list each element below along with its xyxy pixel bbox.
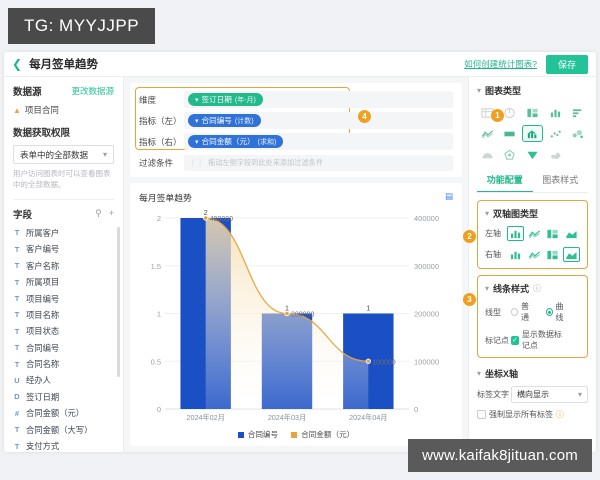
svg-text:400000: 400000 <box>414 214 439 223</box>
field-label: 客户名称 <box>26 260 59 272</box>
chart-type-header[interactable]: ▾ 图表类型 <box>477 84 588 97</box>
right-tabs: 功能配置 图表样式 <box>477 168 588 193</box>
field-item[interactable]: T客户编号 <box>13 241 114 257</box>
dimension-slot[interactable]: ▾ 签订日期 (年-月) <box>184 91 453 108</box>
svg-text:200000: 200000 <box>414 310 439 319</box>
field-type-icon: D <box>13 392 21 401</box>
field-type-icon: T <box>13 343 21 352</box>
save-button[interactable]: 保存 <box>546 55 588 74</box>
line-point-2 <box>366 359 370 363</box>
telegram-banner: TG: MYYJJPP <box>8 8 155 44</box>
chart-type-bar-icon[interactable] <box>567 104 588 121</box>
field-label: 签订日期 <box>26 391 59 403</box>
right-axis-options[interactable] <box>507 247 580 262</box>
field-item[interactable]: T合同名称 <box>13 356 114 372</box>
field-label: 合同编号 <box>26 342 59 354</box>
dual-axis-right-row: 右轴 <box>485 247 580 262</box>
chart-type-stacked-bar-icon[interactable] <box>522 104 543 121</box>
field-item[interactable]: T合同金额（大写） <box>13 421 114 437</box>
field-item[interactable]: D签订日期 <box>13 389 114 405</box>
tag-chevron-icon: ▾ <box>195 117 199 125</box>
filter-hint: 拖动左侧字段到此处来添加过滤条件 <box>208 158 323 168</box>
axis-option-stacked-bar-icon[interactable] <box>544 226 561 241</box>
marker-checkbox-wrap[interactable]: ✓ 显示数据标记点 <box>511 329 569 351</box>
field-label: 所属项目 <box>26 276 59 288</box>
dimension-tag-label: 签订日期 <box>202 94 232 105</box>
field-item[interactable]: T所属项目 <box>13 274 114 290</box>
svg-text:2024年03月: 2024年03月 <box>268 413 306 422</box>
field-type-icon: T <box>13 228 21 237</box>
chart-type-line-icon[interactable] <box>477 125 498 142</box>
checkbox-force-icon <box>477 410 486 419</box>
field-item[interactable]: T客户名称 <box>13 258 114 274</box>
x-label-text-label: 标签文字 <box>477 389 511 400</box>
field-item[interactable]: U经办人 <box>13 372 114 388</box>
chart-title: 每月签单趋势 <box>139 191 192 204</box>
right-axis-label: 右轴 <box>485 249 507 260</box>
axis-option-column-icon[interactable] <box>507 226 524 241</box>
metric-left-tag-label: 合同编号 <box>202 115 232 126</box>
config-row-metric-left: 指标（左） ▾ 合同编号 (计数) <box>139 111 453 130</box>
step-badge-2: 2 <box>463 230 476 243</box>
metric-right-label: 指标（右） <box>139 136 184 148</box>
field-type-icon: T <box>13 261 21 270</box>
fields-list[interactable]: T所属客户T客户编号T客户名称T所属项目T项目编号T项目名称T项目状态T合同编号… <box>4 225 123 452</box>
field-label: 客户编号 <box>26 243 59 255</box>
metric-right-tag-label: 合同金额（元） <box>202 136 255 147</box>
field-label: 经办人 <box>26 374 51 386</box>
field-type-icon: T <box>13 442 21 451</box>
info-icon[interactable]: ⓘ <box>556 409 564 420</box>
field-type-icon: # <box>13 409 21 418</box>
field-type-icon: T <box>13 294 21 303</box>
svg-text:400000: 400000 <box>210 216 233 223</box>
left-panel: 数据源 更改数据源 ▲ 项目合同 数据获取权限 表单中的全部数据 ▾ 用户访问图… <box>4 77 124 452</box>
chart-type-gauge-icon[interactable] <box>477 146 498 163</box>
permission-section: 数据获取权限 表单中的全部数据 ▾ 用户访问图表时可以查看图表中的全部数据。 <box>4 116 123 200</box>
form-icon: ▲ <box>13 106 21 115</box>
page-title: 每月签单趋势 <box>29 56 98 72</box>
datasource-title: 数据源 <box>13 84 42 98</box>
chart-legend: 合同编号合同金额（元） <box>139 426 453 441</box>
drag-handle-icon: ⋮⋮ <box>189 158 204 167</box>
left-axis-label: 左轴 <box>485 228 507 239</box>
fields-title: 字段 <box>13 207 32 221</box>
metric-left-tag[interactable]: ▾ 合同编号 (计数) <box>188 114 261 128</box>
field-label: 合同金额（大写） <box>26 424 92 436</box>
chevron-down-icon: ▾ <box>103 150 107 159</box>
chart-type-scatter-icon[interactable] <box>545 125 566 142</box>
legend-swatch <box>291 432 297 438</box>
field-item[interactable]: T支付方式 <box>13 438 114 452</box>
chart-type-radar-icon[interactable] <box>500 146 521 163</box>
step-badge-3: 3 <box>463 293 476 306</box>
force-label-text: 强制显示所有标签 <box>489 409 553 420</box>
field-label: 合同金额（元） <box>26 407 84 419</box>
fields-header: 字段 ⚲ + <box>4 200 123 225</box>
metric-right-tag[interactable]: ▾ 合同金额（元） (求和) <box>188 135 283 149</box>
svg-text:0: 0 <box>157 405 161 414</box>
filter-dropzone[interactable]: ⋮⋮ 拖动左侧字段到此处来添加过滤条件 <box>184 155 453 171</box>
marker-text: 显示数据标记点 <box>522 329 569 351</box>
search-icon[interactable]: ⚲ <box>95 208 102 219</box>
chart-svg: 00.511.520100000200000300000400000211400… <box>139 208 453 426</box>
dimension-tag-suffix: (年-月) <box>235 95 256 105</box>
x-axis-header[interactable]: ▾ 坐标X轴 <box>477 367 588 380</box>
app-body: 数据源 更改数据源 ▲ 项目合同 数据获取权限 表单中的全部数据 ▾ 用户访问图… <box>4 77 596 452</box>
line-point-0 <box>203 216 207 220</box>
chart-type-blank-icon[interactable] <box>567 146 588 163</box>
field-item[interactable]: T项目编号 <box>13 290 114 306</box>
field-type-icon: T <box>13 360 21 369</box>
dual-axis-title: 双轴图类型 <box>493 207 538 220</box>
plus-icon[interactable]: + <box>109 208 114 219</box>
center-panel: 4 维度 ▾ 签订日期 (年-月) 指标（左） <box>124 77 468 452</box>
chevron-down-icon: ▾ <box>578 390 582 399</box>
chart-type-bubble-icon[interactable] <box>567 125 588 142</box>
right-panel: ▾ 图表类型 1 功能配置 图表样式 2 ▾ 双轴图类型 左轴 <box>468 77 596 452</box>
legend-swatch <box>238 432 244 438</box>
field-label: 合同名称 <box>26 358 59 370</box>
chevron-down-icon: ▾ <box>485 284 489 293</box>
chart-type-funnel-icon[interactable] <box>522 146 543 163</box>
metric-left-slot[interactable]: ▾ 合同编号 (计数) <box>184 112 453 129</box>
field-type-icon: T <box>13 245 21 254</box>
metric-left-label: 指标（左） <box>139 115 184 127</box>
svg-text:1.5: 1.5 <box>151 262 161 271</box>
dual-axis-box: ▾ 双轴图类型 左轴 右轴 <box>477 200 588 269</box>
svg-text:200000: 200000 <box>291 312 314 319</box>
line-type-row: 线型 普通 曲线 <box>485 301 580 323</box>
legend-item[interactable]: 合同金额（元） <box>291 429 354 440</box>
permission-hint: 用户访问图表时可以查看图表中的全部数据。 <box>13 169 114 191</box>
line-type-normal-label: 普通 <box>521 301 534 323</box>
app-window: ❮ 每月签单趋势 如何创建统计图表? 保存 数据源 更改数据源 ▲ 项目合同 数… <box>4 52 596 452</box>
field-label: 项目名称 <box>26 309 59 321</box>
x-label-row: 标签文字 横向显示 ▾ <box>477 386 588 403</box>
permission-select[interactable]: 表单中的全部数据 ▾ <box>13 145 114 164</box>
dual-axis-header[interactable]: ▾ 双轴图类型 <box>485 207 580 220</box>
svg-text:2024年04月: 2024年04月 <box>349 413 387 422</box>
field-type-icon: U <box>13 376 21 385</box>
dual-axis-left-row: 左轴 <box>485 226 580 241</box>
force-label-row: 强制显示所有标签 ⓘ <box>477 409 588 420</box>
config-row-metric-right: 指标（右） ▾ 合同金额（元） (求和) <box>139 132 453 151</box>
chart-type-section: ▾ 图表类型 1 <box>469 77 596 168</box>
chart-type-map-icon[interactable] <box>545 146 566 163</box>
info-icon[interactable]: ⓘ <box>533 283 541 294</box>
legend-item[interactable]: 合同编号 <box>238 429 278 440</box>
svg-text:100000: 100000 <box>414 357 439 366</box>
svg-text:1: 1 <box>366 304 370 313</box>
x-axis-title: 坐标X轴 <box>485 367 518 380</box>
help-link[interactable]: 如何创建统计图表? <box>464 58 537 70</box>
checkbox-marker-icon: ✓ <box>511 336 519 345</box>
field-item[interactable]: T项目状态 <box>13 323 114 339</box>
field-type-icon: T <box>13 327 21 336</box>
tab-function-config[interactable]: 功能配置 <box>477 168 533 192</box>
dimension-label: 维度 <box>139 94 184 106</box>
radio-normal-icon <box>511 308 518 316</box>
dual-axis-panel: 2 ▾ 双轴图类型 左轴 右轴 <box>469 193 596 269</box>
svg-text:0.5: 0.5 <box>151 357 161 366</box>
svg-text:300000: 300000 <box>414 262 439 271</box>
field-label: 项目状态 <box>26 325 59 337</box>
permission-value: 表单中的全部数据 <box>20 149 88 161</box>
chevron-down-icon: ▾ <box>477 86 481 95</box>
left-axis-options[interactable] <box>507 226 580 241</box>
back-chevron-icon[interactable]: ❮ <box>12 57 22 71</box>
metric-left-tag-suffix: (计数) <box>235 116 254 126</box>
svg-text:2024年02月: 2024年02月 <box>186 413 224 422</box>
change-datasource-link[interactable]: 更改数据源 <box>71 85 114 97</box>
chart-type-title: 图表类型 <box>485 84 521 97</box>
fields-scrollbar[interactable] <box>117 227 120 377</box>
chart-type-column-icon[interactable] <box>545 104 566 121</box>
axis-option-line-icon[interactable] <box>526 247 543 262</box>
field-item[interactable]: T所属客户 <box>13 225 114 241</box>
axis-option-column-icon[interactable] <box>507 247 524 262</box>
field-label: 所属客户 <box>26 227 59 239</box>
chart-header: 每月签单趋势 ▤ <box>139 191 453 204</box>
line-point-1 <box>285 311 289 315</box>
line-style-header[interactable]: ▾ 线条样式 ⓘ <box>485 282 580 295</box>
permission-title: 数据获取权限 <box>13 125 114 139</box>
svg-text:0: 0 <box>414 405 418 414</box>
tag-chevron-icon: ▾ <box>195 138 199 146</box>
axis-option-area-icon[interactable] <box>563 226 580 241</box>
step-badge-1: 1 <box>491 109 504 122</box>
tag-chevron-icon: ▾ <box>195 96 199 104</box>
field-item[interactable]: T项目名称 <box>13 307 114 323</box>
metric-right-slot[interactable]: ▾ 合同金额（元） (求和) <box>184 133 453 150</box>
axis-option-area-icon[interactable] <box>563 247 580 262</box>
line-type-option-normal[interactable]: 普通 <box>511 301 535 323</box>
config-card: 4 维度 ▾ 签订日期 (年-月) 指标（左） <box>130 83 462 177</box>
line-style-panel: 3 ▾ 线条样式 ⓘ 线型 普通 <box>469 269 596 358</box>
chart-settings-icon[interactable]: ▤ <box>445 191 453 202</box>
field-label: 项目编号 <box>26 293 59 305</box>
field-item[interactable]: #合同金额（元） <box>13 405 114 421</box>
marker-row: 标记点 ✓ 显示数据标记点 <box>485 329 580 351</box>
header-actions: 如何创建统计图表? 保存 <box>464 55 588 74</box>
axis-option-line-icon[interactable] <box>526 226 543 241</box>
x-label-value: 横向显示 <box>517 389 549 400</box>
step-badge-4: 4 <box>358 110 371 123</box>
legend-label: 合同编号 <box>248 429 278 440</box>
radio-curve-icon <box>546 308 553 316</box>
chevron-down-icon: ▾ <box>485 209 489 218</box>
chevron-down-icon: ▾ <box>477 369 481 378</box>
line-type-label: 线型 <box>485 307 511 318</box>
line-style-box: ▾ 线条样式 ⓘ 线型 普通 曲线 <box>477 275 588 358</box>
app-header: ❮ 每月签单趋势 如何创建统计图表? 保存 <box>4 52 596 77</box>
filter-label: 过滤条件 <box>139 157 184 169</box>
line-type-curve-label: 曲线 <box>556 301 569 323</box>
field-label: 支付方式 <box>26 440 59 452</box>
svg-text:100000: 100000 <box>372 359 395 366</box>
svg-text:1: 1 <box>157 310 161 319</box>
chart-type-dual-axis-icon[interactable] <box>522 125 543 142</box>
field-type-icon: T <box>13 310 21 319</box>
field-type-icon: T <box>13 425 21 434</box>
marker-label: 标记点 <box>485 335 511 346</box>
metric-right-tag-suffix: (求和) <box>258 137 277 147</box>
site-watermark: www.kaifak8jituan.com <box>408 439 592 472</box>
field-type-icon: T <box>13 278 21 287</box>
x-axis-panel: ▾ 坐标X轴 标签文字 横向显示 ▾ 强制显示所有标签 ⓘ <box>469 358 596 420</box>
svg-text:2: 2 <box>157 214 161 223</box>
dimension-tag[interactable]: ▾ 签订日期 (年-月) <box>188 93 263 107</box>
axis-option-stacked-bar-icon[interactable] <box>544 247 561 262</box>
line-style-title: 线条样式 <box>493 282 529 295</box>
tab-chart-style[interactable]: 图表样式 <box>533 168 589 192</box>
legend-label: 合同金额（元） <box>301 429 354 440</box>
config-row-dimension: 维度 ▾ 签订日期 (年-月) <box>139 90 453 109</box>
chart-plot-area: 00.511.520100000200000300000400000211400… <box>139 208 453 426</box>
chart-type-funnel-highlight-icon[interactable] <box>500 125 521 142</box>
datasource-item[interactable]: ▲ 项目合同 <box>13 104 114 116</box>
x-label-select[interactable]: 横向显示 ▾ <box>511 386 588 403</box>
line-type-option-curve[interactable]: 曲线 <box>546 301 570 323</box>
force-label-checkbox-wrap[interactable]: 强制显示所有标签 ⓘ <box>477 409 564 420</box>
chart-card: 每月签单趋势 ▤ 00.511.520100000200000300000400… <box>130 183 462 446</box>
datasource-section: 数据源 更改数据源 ▲ 项目合同 <box>4 77 123 116</box>
filter-row: 过滤条件 ⋮⋮ 拖动左侧字段到此处来添加过滤条件 <box>139 154 453 171</box>
field-item[interactable]: T合同编号 <box>13 339 114 355</box>
datasource-item-label: 项目合同 <box>25 104 59 116</box>
